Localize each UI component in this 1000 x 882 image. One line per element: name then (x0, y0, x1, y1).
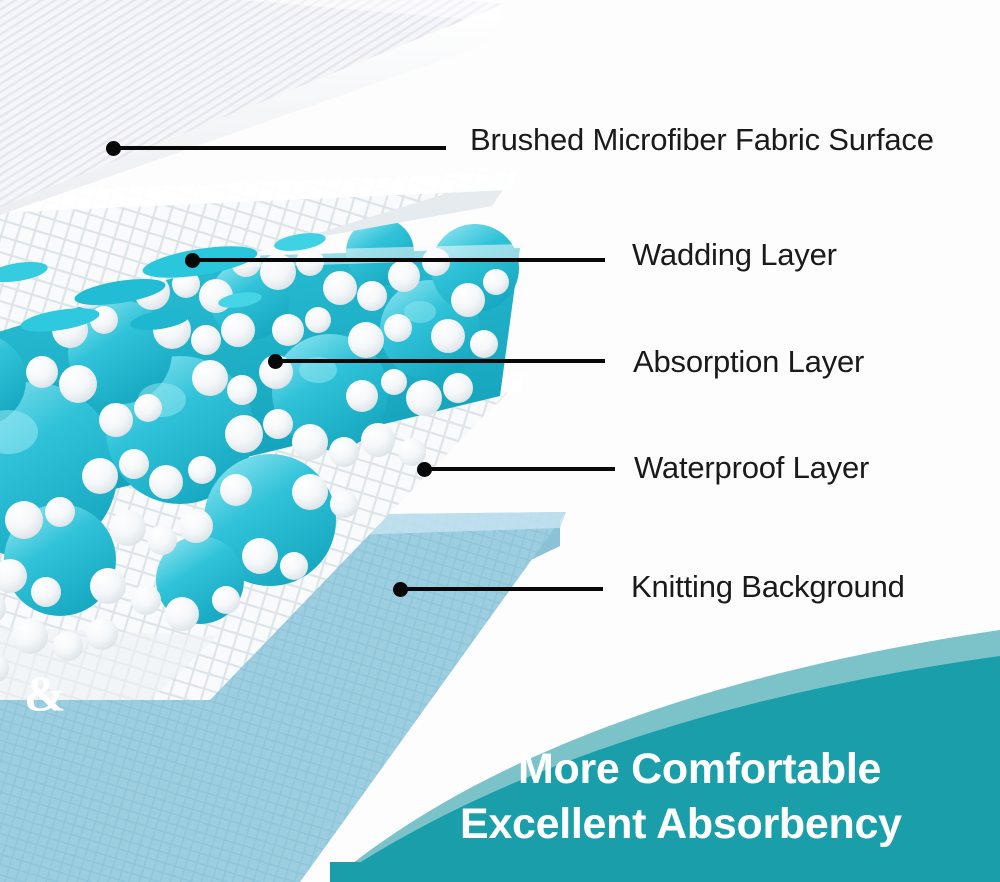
callout-leader-line (281, 359, 605, 363)
banner-headline-group: More Comfortable Excellent Absorbency (420, 742, 1000, 852)
banner-headline-line-2: Excellent Absorbency (460, 797, 1000, 852)
callout-leader-line (406, 587, 603, 591)
layer-label-absorption: Absorption Layer (633, 346, 864, 377)
product-layer-infographic: Brushed Microfiber Fabric Surface Waddin… (0, 0, 1000, 882)
callout-line-microfiber (106, 136, 446, 160)
callout-line-wadding (185, 248, 605, 272)
callout-line-waterproof (417, 457, 615, 481)
layer-label-wadding: Wadding Layer (632, 239, 837, 270)
callout-line-absorption (268, 349, 605, 373)
banner-headline-line-1: More Comfortable (518, 742, 1000, 797)
layer-label-knitting: Knitting Background (631, 571, 905, 602)
callout-line-knitting (393, 577, 603, 601)
callout-leader-line (430, 467, 615, 471)
callout-leader-line (119, 146, 446, 150)
layer-label-waterproof: Waterproof Layer (634, 452, 869, 483)
layer-label-microfiber: Brushed Microfiber Fabric Surface (470, 124, 934, 155)
callout-leader-line (198, 258, 605, 262)
